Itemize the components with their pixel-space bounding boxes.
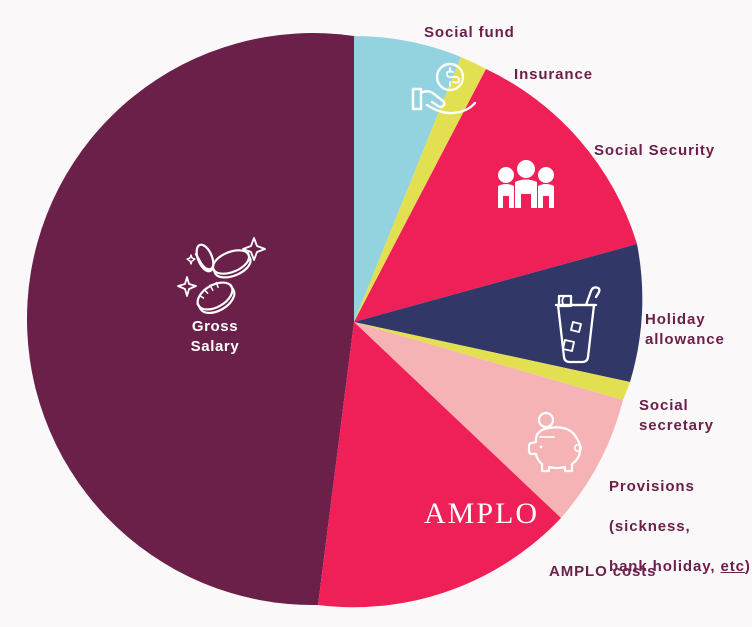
label-provisions: Provisions (sickness, bank holiday, etc) — [609, 457, 751, 577]
label-provisions-line2: (sickness, — [609, 518, 691, 535]
label-provisions-etc: etc — [721, 558, 745, 575]
label-social-security: Social Security — [594, 141, 715, 161]
slice-label-gross-salary: Gross Salary — [160, 317, 270, 357]
label-amplo-costs: AMPLO costs — [549, 562, 656, 582]
label-social-secretary: Social secretary — [639, 396, 752, 436]
amplo-wordmark: AMPLO — [424, 497, 539, 531]
label-insurance: Insurance — [514, 65, 593, 85]
label-provisions-paren: ) — [745, 558, 751, 575]
label-provisions-line1: Provisions — [609, 478, 695, 495]
pie-chart: Gross Salary AMPLO Social fund Insurance… — [0, 0, 752, 627]
label-holiday-allowance: Holiday allowance — [645, 310, 725, 350]
label-social-fund: Social fund — [424, 23, 515, 43]
